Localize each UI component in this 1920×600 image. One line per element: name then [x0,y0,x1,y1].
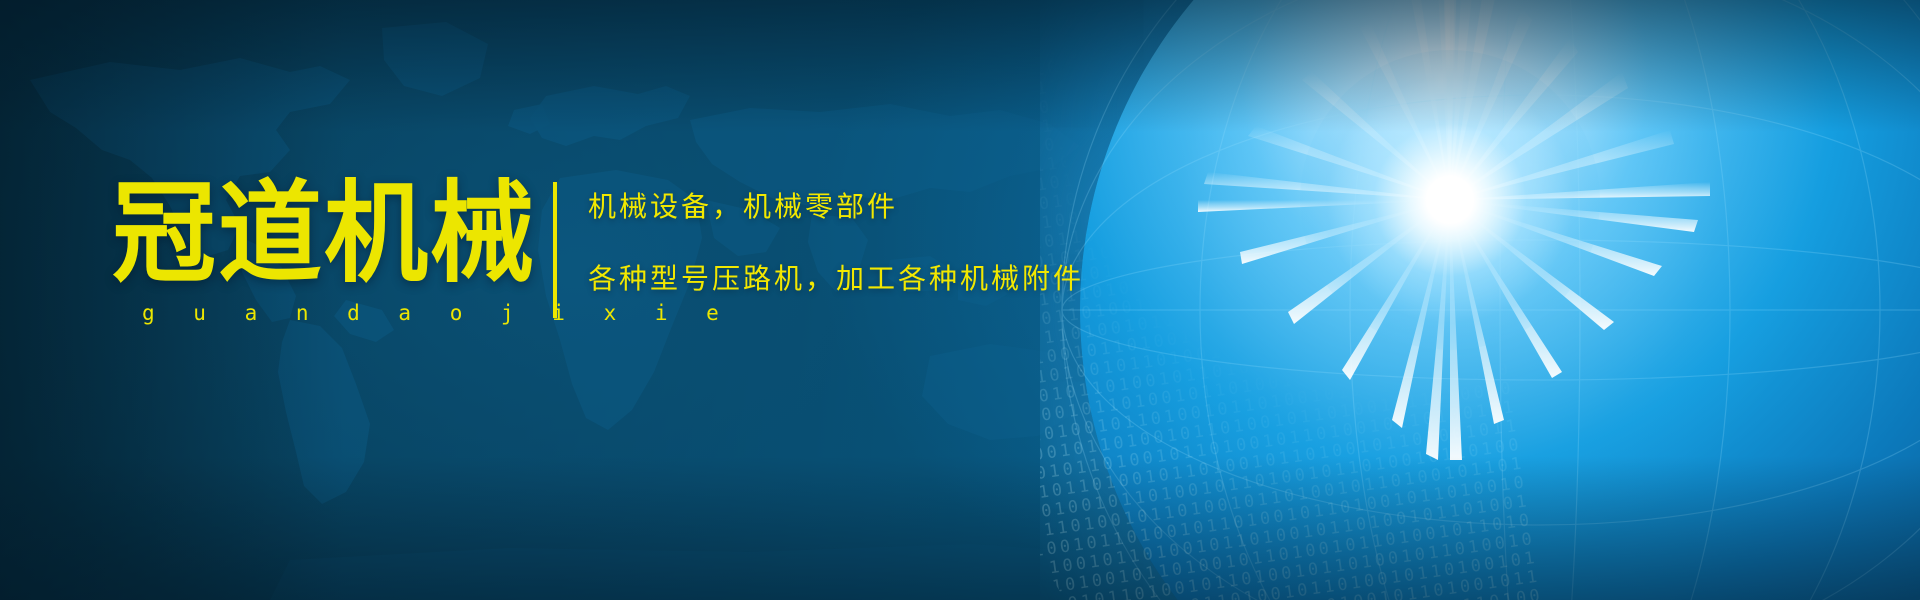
tagline-line-2: 各种型号压路机，加工各种机械附件 [588,264,1228,294]
vertical-divider [553,182,557,318]
brand-name-cn: 冠道机械 [112,178,542,288]
tagline-block: 机械设备，机械零部件 各种型号压路机，加工各种机械附件 [588,192,1228,294]
tagline-line-1: 机械设备，机械零部件 [588,192,1228,222]
brand-name-pinyin: g u a n d a o j i x i e [142,300,542,326]
hero-banner: 10110100101101001011010010110100101101 0… [0,0,1920,600]
brand-logo: 冠道机械 g u a n d a o j i x i e [112,178,542,326]
banner-content: 冠道机械 g u a n d a o j i x i e 机械设备，机械零部件 … [0,0,1920,600]
